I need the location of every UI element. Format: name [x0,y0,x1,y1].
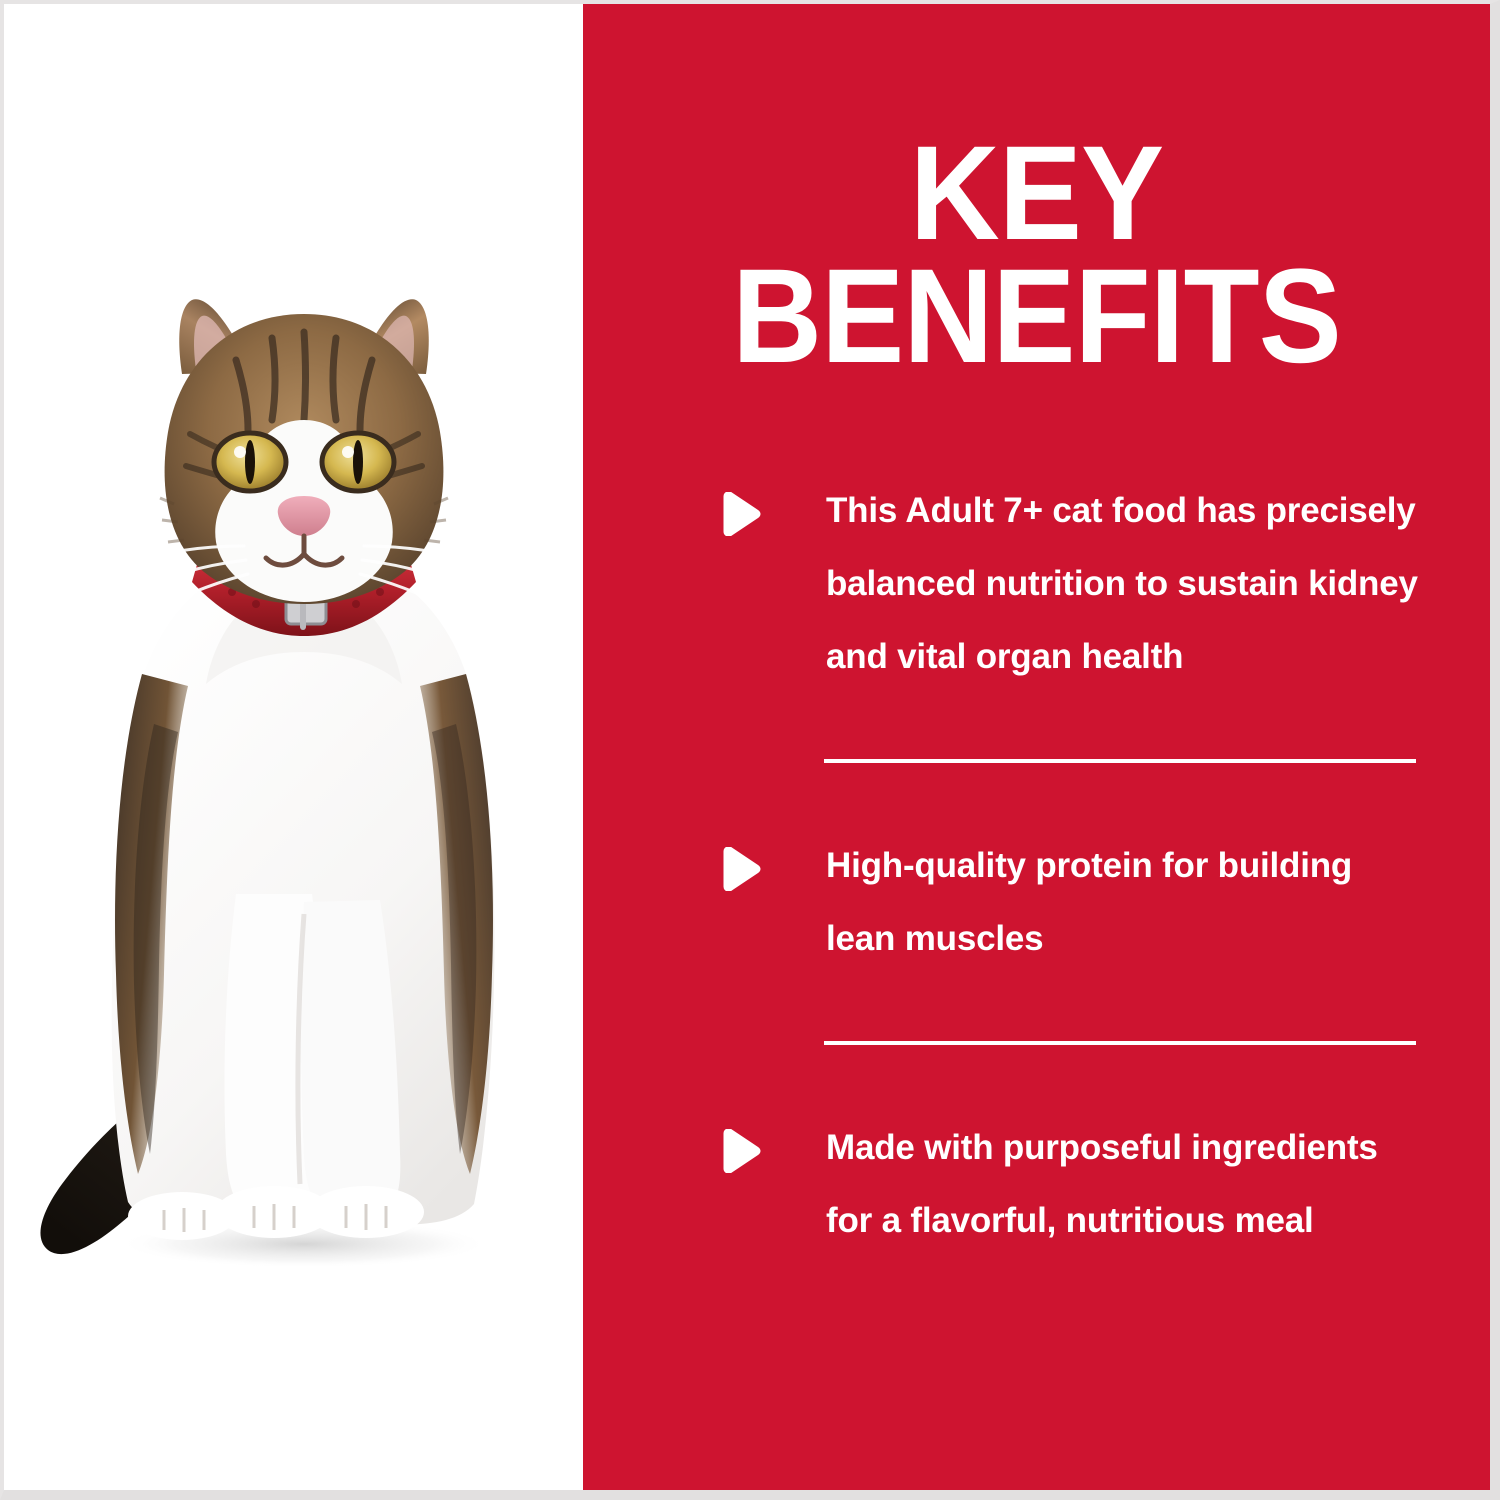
benefit-item-3: Made with purposeful ingredients for a f… [583,1111,1490,1257]
benefit-divider-2 [824,1041,1416,1045]
benefit-list: This Adult 7+ cat food has precisely bal… [583,474,1490,1257]
benefit-text-2: High-quality protein for building lean m… [826,829,1420,975]
benefit-text-1: This Adult 7+ cat food has precisely bal… [826,474,1420,693]
cat-eye-right [322,433,394,491]
infographic-canvas: KEY BENEFITS This Adult 7+ cat food has … [0,0,1500,1500]
benefit-text-3: Made with purposeful ingredients for a f… [826,1111,1420,1257]
benefit-spacer-4 [583,1071,1490,1111]
play-triangle-icon [719,492,761,536]
benefit-item-1: This Adult 7+ cat food has precisely bal… [583,474,1490,693]
benefit-divider-1 [824,759,1416,763]
benefit-spacer-3 [583,975,1490,1015]
benefit-spacer-1 [583,693,1490,733]
benefit-spacer-2 [583,789,1490,829]
page-title: KEY BENEFITS [615,132,1459,379]
cat-eye-left [214,433,286,491]
key-benefits-panel: KEY BENEFITS This Adult 7+ cat food has … [583,4,1490,1490]
product-photo-panel [4,4,583,1490]
cat-paw-tail-side [128,1192,236,1240]
cat-photograph [4,254,583,1274]
play-triangle-icon [719,1129,761,1173]
benefit-item-2: High-quality protein for building lean m… [583,829,1490,975]
play-triangle-icon [719,847,761,891]
